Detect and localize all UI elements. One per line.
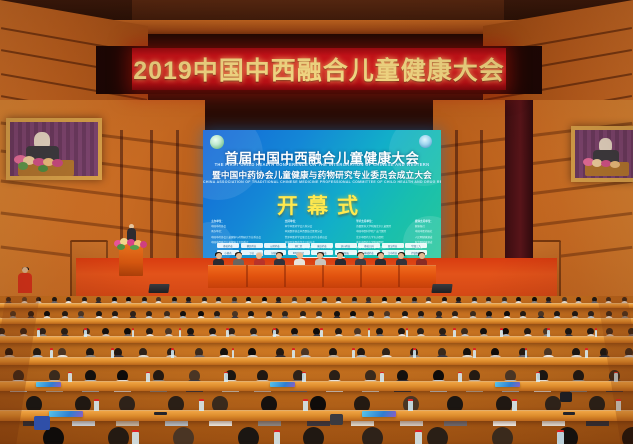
conference-booklet [495, 382, 521, 387]
audience-seating-area [0, 296, 633, 444]
led-credit-column: 支持单位： 中华中医药学会儿科分会 中国医师协会中西医结合医师分会 世界中医药学… [285, 219, 333, 245]
sponsor-logo: 葵花儿科 [358, 243, 380, 248]
water-bottle [171, 350, 174, 358]
water-bottle [226, 330, 229, 337]
audience-member [487, 427, 518, 444]
conference-booklet [49, 411, 84, 417]
water-bottle [415, 432, 422, 444]
audience-member [168, 427, 199, 444]
water-bottle [224, 373, 228, 382]
led-credit-column: 学术支持单位： 首都医科大学附属北京儿童医院 中国中医科学院广安门医院 北京中医… [356, 219, 391, 245]
phone-on-desk [563, 412, 576, 415]
water-bottle [111, 350, 114, 358]
left-projection-screen [6, 118, 102, 180]
water-bottle [302, 373, 306, 382]
water-bottle [595, 330, 598, 337]
led-credit-columns: 主办单位： 中国中药协会 承办单位： 中国中药协会儿童健康与药物研究专业委员会 … [211, 219, 433, 245]
water-bottle [352, 350, 355, 358]
podium-flower-arrangement [114, 237, 148, 250]
water-bottle [50, 350, 53, 358]
stage-floor-monitor [148, 284, 169, 293]
audience-desk-row [0, 357, 633, 365]
audience-desk-row [0, 381, 633, 390]
water-bottle [536, 373, 540, 382]
sponsor-logo: 华润三九 [405, 243, 427, 248]
water-bottle [320, 330, 323, 337]
water-bottle [547, 330, 550, 337]
water-bottle [84, 330, 87, 337]
audience-member [103, 427, 134, 444]
water-bottle [199, 400, 204, 411]
audience-desk-row [0, 410, 633, 421]
water-bottle [303, 400, 308, 411]
water-bottle [408, 400, 413, 411]
conference-booklet [270, 382, 296, 387]
water-bottle [585, 350, 588, 358]
sponsor-logo: 以岭药业 [264, 243, 286, 248]
audience-desk-row [0, 336, 633, 343]
bag [560, 392, 572, 402]
water-bottle [132, 432, 139, 444]
led-title-sub-en: CHINA ASSOCIATION OF TRADITIONAL CHINESE… [203, 180, 441, 184]
conference-booklet [362, 411, 397, 417]
audience-desk-row [0, 318, 633, 324]
phone-on-desk [154, 412, 167, 415]
water-bottle [132, 330, 135, 337]
water-bottle [453, 330, 456, 337]
water-bottle [458, 373, 462, 382]
water-bottle [413, 350, 416, 358]
water-bottle [274, 432, 281, 444]
sponsor-logo: 亚宝药业 [382, 243, 404, 248]
water-bottle [380, 373, 384, 382]
banner-title-text: 2019中国中西融合儿童健康大会 [133, 51, 505, 87]
sponsor-logo: 健民药业 [241, 243, 263, 248]
sponsor-logo: 济川药业 [335, 243, 357, 248]
sponsor-logo: 康芝药业 [311, 243, 333, 248]
led-title-main-en: THE FIRST CHILD HEALTH CONFERENCE ON THE… [203, 162, 441, 167]
audience-member [298, 427, 329, 444]
water-bottle [406, 330, 409, 337]
led-headline: 开幕式 [203, 190, 441, 220]
auditorium-photo: 2019中国中西融合儿童健康大会 首届中国中西融合儿童健康大会 THE [0, 0, 633, 444]
water-bottle [292, 350, 295, 358]
water-bottle [68, 373, 72, 382]
main-led-screen: 首届中国中西融合儿童健康大会 THE FIRST CHILD HEALTH CO… [203, 130, 441, 258]
water-bottle [273, 330, 276, 337]
conference-booklet [36, 382, 62, 387]
audience-member [233, 427, 264, 444]
bag [330, 414, 343, 425]
sponsor-logo: 同仁堂 [288, 243, 310, 248]
led-credit-column: 主办单位： 中国中药协会 承办单位： 中国中药协会儿童健康与药物研究专业委员会 … [211, 219, 261, 245]
led-credit-column: 媒体支持单位： 健康报社 中国中医药报社 人民网健康频道 新华网健康频道 医师报 [415, 219, 433, 245]
water-bottle [146, 373, 150, 382]
water-bottle [179, 330, 182, 337]
staff-member-red-shirt [18, 267, 32, 293]
audience-desk-row [0, 303, 633, 308]
water-bottle [557, 432, 564, 444]
water-bottle [37, 330, 40, 337]
water-bottle [512, 400, 517, 411]
main-event-banner: 2019中国中西融合儿童健康大会 [132, 48, 506, 90]
water-bottle [473, 350, 476, 358]
right-projection-screen [571, 126, 633, 182]
sponsor-logo: 葵花药业 [217, 243, 239, 248]
water-bottle [368, 330, 371, 337]
water-bottle [94, 400, 99, 411]
audience-member [422, 427, 453, 444]
audience-member [357, 427, 388, 444]
bag [34, 416, 50, 430]
stage-floor-monitor [431, 284, 452, 293]
water-bottle [500, 330, 503, 337]
